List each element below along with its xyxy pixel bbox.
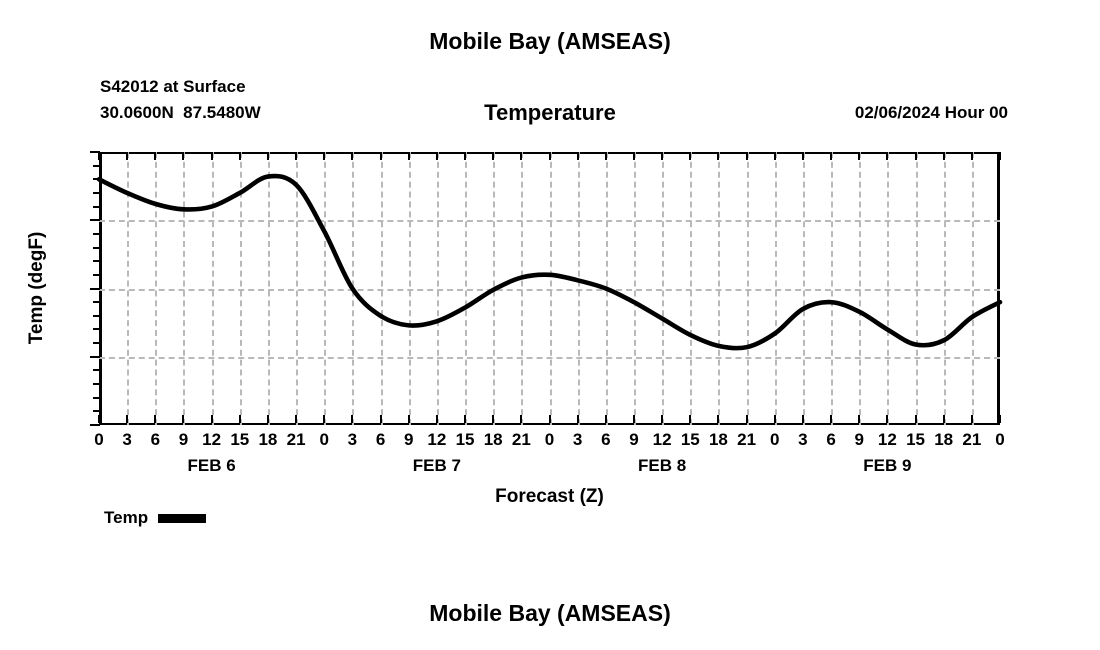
x-tick-label: 18	[934, 430, 953, 450]
x-tick-label: 18	[258, 430, 277, 450]
legend: Temp	[104, 508, 206, 528]
x-tick-label: 15	[681, 430, 700, 450]
x-tick-label: 12	[202, 430, 221, 450]
x-tick-label: 12	[653, 430, 672, 450]
page-title-bottom: Mobile Bay (AMSEAS)	[0, 600, 1100, 627]
x-day-label: FEB 8	[638, 456, 686, 476]
x-tick-label: 3	[573, 430, 582, 450]
x-tick-label: 6	[376, 430, 385, 450]
x-axis-title: Forecast (Z)	[99, 486, 1000, 508]
x-tick-label: 21	[737, 430, 756, 450]
x-tick-label: 9	[404, 430, 413, 450]
x-tick-label: 3	[348, 430, 357, 450]
x-tick-label: 6	[601, 430, 610, 450]
model-run-label: 02/06/2024 Hour 00	[855, 103, 1008, 123]
x-tick-label: 0	[94, 430, 103, 450]
x-tick-label: 12	[878, 430, 897, 450]
x-tick-label: 6	[826, 430, 835, 450]
x-tick-label: 15	[230, 430, 249, 450]
x-tick-label: 15	[906, 430, 925, 450]
legend-swatch-temp	[158, 514, 206, 523]
page-title-top: Mobile Bay (AMSEAS)	[0, 28, 1100, 55]
x-day-label: FEB 6	[188, 456, 236, 476]
x-tick-label: 21	[962, 430, 981, 450]
x-tick-label: 18	[484, 430, 503, 450]
x-tick-label: 0	[770, 430, 779, 450]
temperature-line	[99, 176, 1000, 348]
x-day-label: FEB 9	[863, 456, 911, 476]
x-tick-label: 18	[709, 430, 728, 450]
x-tick-label: 9	[179, 430, 188, 450]
chart-page: Mobile Bay (AMSEAS) S42012 at Surface 30…	[0, 0, 1100, 650]
x-tick-label: 12	[427, 430, 446, 450]
station-line: S42012 at Surface	[100, 74, 261, 100]
x-tick-label: 3	[798, 430, 807, 450]
legend-label-temp: Temp	[104, 508, 148, 528]
x-tick-label: 21	[512, 430, 531, 450]
x-day-label: FEB 7	[413, 456, 461, 476]
temperature-series	[99, 152, 1000, 425]
plot-area: 63.0062.5062.0061.5061.00 03691215182103…	[99, 152, 1000, 425]
x-tick-label: 0	[320, 430, 329, 450]
x-tick-label: 21	[287, 430, 306, 450]
x-tick-label: 15	[456, 430, 475, 450]
x-tick-label: 6	[151, 430, 160, 450]
x-tick-label: 9	[854, 430, 863, 450]
x-tick-label: 9	[629, 430, 638, 450]
x-tick-label: 0	[995, 430, 1004, 450]
x-tick-label: 3	[122, 430, 131, 450]
y-axis-title: Temp (degF)	[26, 232, 48, 345]
x-tick-label: 0	[545, 430, 554, 450]
